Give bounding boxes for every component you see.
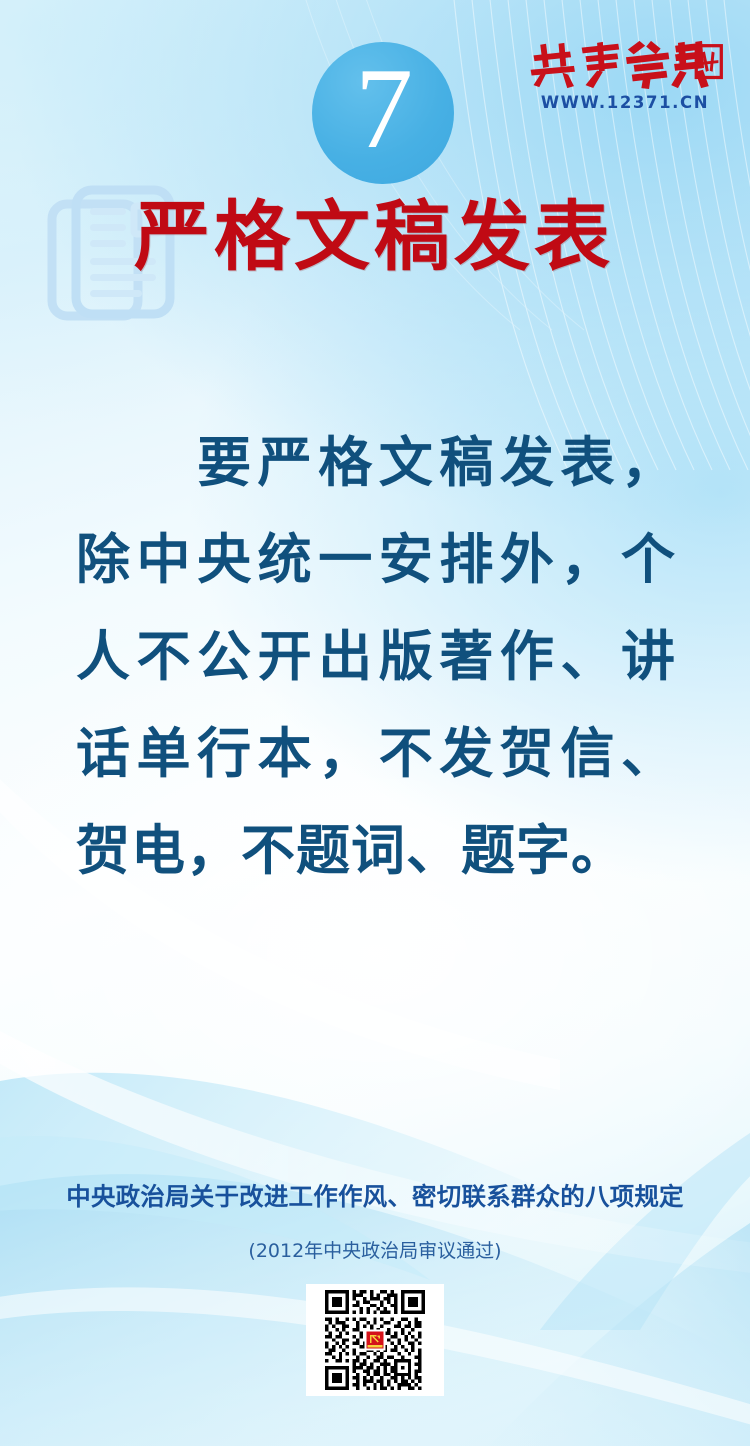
- party-emblem-icon: [365, 1330, 386, 1351]
- body-copy: 要严格文稿发表，除中央统一安排外，个人不公开出版著作、讲话单行本，不发贺信、贺电…: [76, 414, 676, 899]
- footer-regulation-subtitle: (2012年中央政治局审议通过): [0, 1236, 750, 1263]
- brand-url[interactable]: WWW.12371.CN: [522, 93, 728, 112]
- footer-regulation-title: 中央政治局关于改进工作作风、密切联系群众的八项规定: [0, 1178, 750, 1213]
- qr-code-icon[interactable]: [316, 1290, 434, 1390]
- body-paragraph: 要严格文稿发表，除中央统一安排外，个人不公开出版著作、讲话单行本，不发贺信、贺电…: [76, 414, 676, 899]
- brand-calligraphy-logo-icon: [522, 38, 728, 90]
- poster-root: 7: [0, 0, 750, 1446]
- brand-logo[interactable]: WWW.12371.CN: [522, 38, 728, 112]
- qr-code[interactable]: [306, 1284, 444, 1396]
- page-title: 严格文稿发表: [134, 196, 694, 278]
- step-number-value: 7: [355, 51, 411, 167]
- step-number-badge: 7: [312, 42, 454, 184]
